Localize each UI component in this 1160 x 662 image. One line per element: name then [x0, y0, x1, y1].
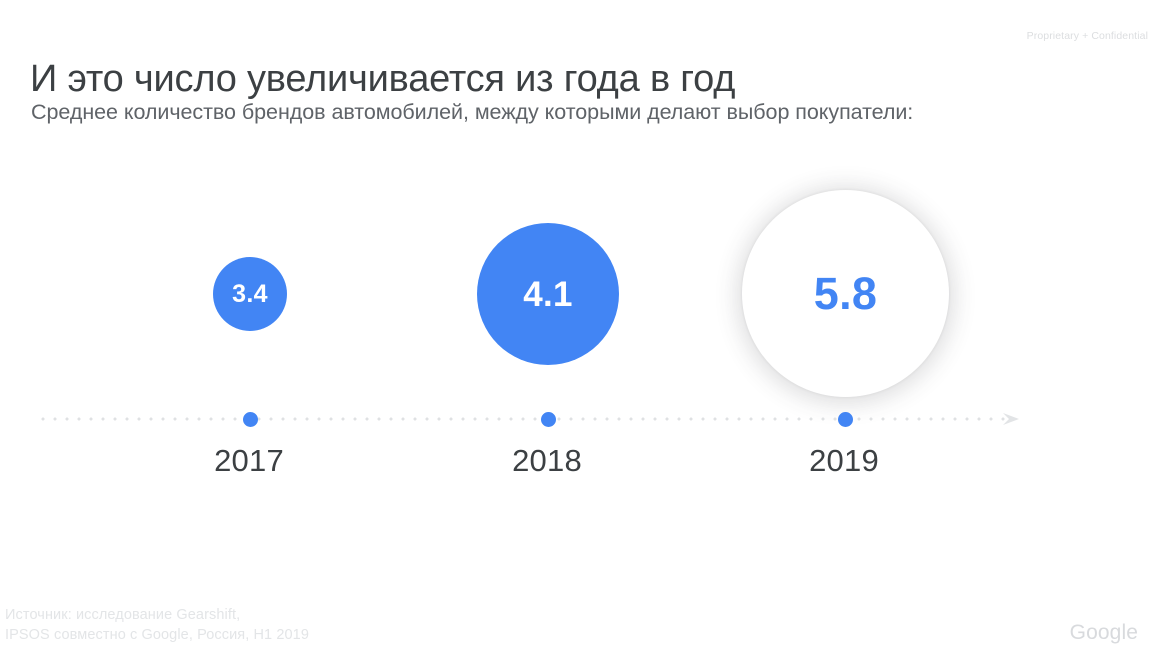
- page-title: И это число увеличивается из года в год: [30, 56, 735, 102]
- bubble-2017[interactable]: 3.4: [213, 257, 287, 331]
- source-note-line-2: IPSOS совместно с Google, Россия, H1 201…: [5, 625, 309, 645]
- google-logo: Google: [1070, 621, 1138, 645]
- bubble-value-2018: 4.1: [523, 277, 573, 312]
- axis-label-2019: 2019: [809, 443, 879, 479]
- axis-dot-2017[interactable]: [243, 412, 258, 427]
- confidentiality-notice: Proprietary + Confidential: [1027, 30, 1148, 42]
- timeline-axis: [37, 417, 1005, 421]
- arrow-right-icon: [1000, 408, 1022, 430]
- slide-canvas: Proprietary + Confidential И это число у…: [0, 0, 1160, 662]
- source-note: Источник: исследование Gearshift, IPSOS …: [5, 605, 309, 645]
- axis-label-2018: 2018: [512, 443, 582, 479]
- source-note-line-1: Источник: исследование Gearshift,: [5, 605, 309, 625]
- axis-dot-2019[interactable]: [838, 412, 853, 427]
- axis-label-2017: 2017: [214, 443, 284, 479]
- bubble-value-2017: 3.4: [232, 282, 268, 307]
- bubble-value-2019: 5.8: [814, 271, 877, 316]
- page-subtitle: Среднее количество брендов автомобилей, …: [31, 97, 913, 127]
- axis-dot-2018[interactable]: [541, 412, 556, 427]
- bubble-2019[interactable]: 5.8: [742, 190, 949, 397]
- bubble-2018[interactable]: 4.1: [477, 223, 619, 365]
